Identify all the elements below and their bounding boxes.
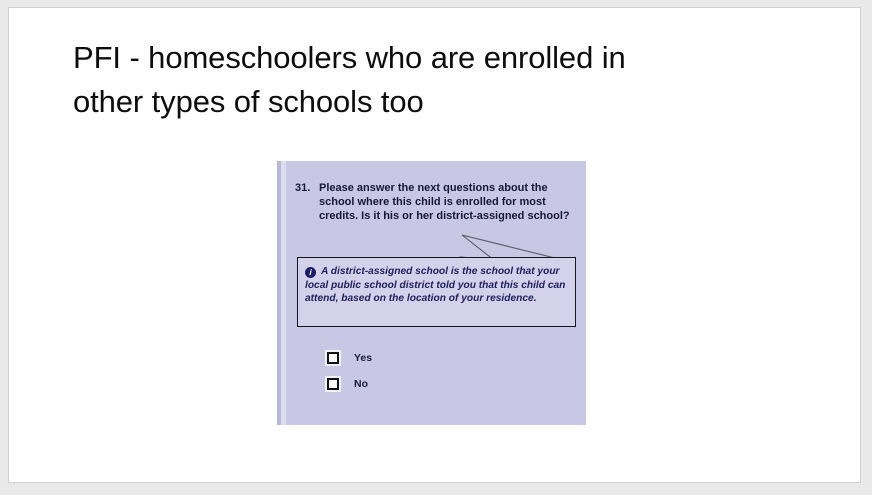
slide-canvas: PFI - homeschoolers who are enrolled in … (8, 7, 861, 483)
info-note-text: A district-assigned school is the school… (305, 266, 565, 304)
page-title: PFI - homeschoolers who are enrolled in … (73, 36, 773, 124)
option-label-yes: Yes (354, 352, 372, 364)
survey-left-accent-strip-inner (281, 161, 286, 425)
survey-question: 31. Please answer the next questions abo… (295, 181, 575, 223)
answer-options: Yes No (327, 345, 507, 397)
info-note-paragraph: iA district-assigned school is the schoo… (305, 265, 567, 306)
option-row-yes[interactable]: Yes (327, 345, 507, 371)
checkbox-yes[interactable] (327, 352, 339, 364)
option-label-no: No (354, 378, 368, 390)
question-number: 31. (295, 181, 319, 195)
checkbox-no[interactable] (327, 378, 339, 390)
info-note-box: iA district-assigned school is the schoo… (297, 257, 576, 327)
info-circle-icon: i (305, 267, 316, 278)
question-text: Please answer the next questions about t… (319, 181, 571, 223)
survey-screenshot-image: 31. Please answer the next questions abo… (277, 161, 586, 425)
option-row-no[interactable]: No (327, 371, 507, 397)
